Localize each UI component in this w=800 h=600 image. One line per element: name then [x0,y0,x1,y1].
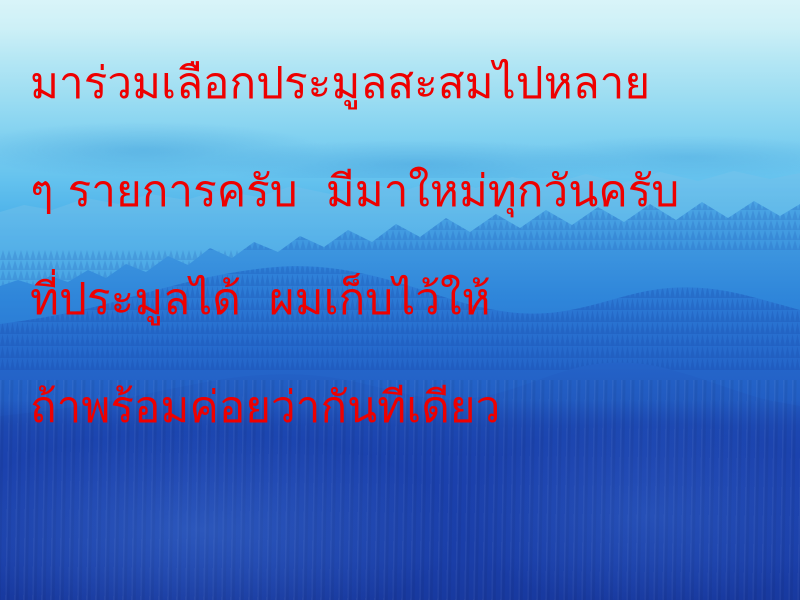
caption-line-4: ถ้าพร้อมค่อยว่ากันทีเดียว [30,354,790,462]
caption-line-3: ที่ประมูลได้ ผมเก็บไว้ให้ [30,246,790,354]
caption-line-2: ๆ รายการครับ มีมาใหม่ทุกวันครับ [30,138,790,246]
caption-line-1: มาร่วมเลือกประมูลสะสมไปหลาย [30,30,790,138]
banner-image: มาร่วมเลือกประมูลสะสมไปหลาย ๆ รายการครับ… [0,0,800,600]
overlay-caption: มาร่วมเลือกประมูลสะสมไปหลาย ๆ รายการครับ… [0,0,800,600]
